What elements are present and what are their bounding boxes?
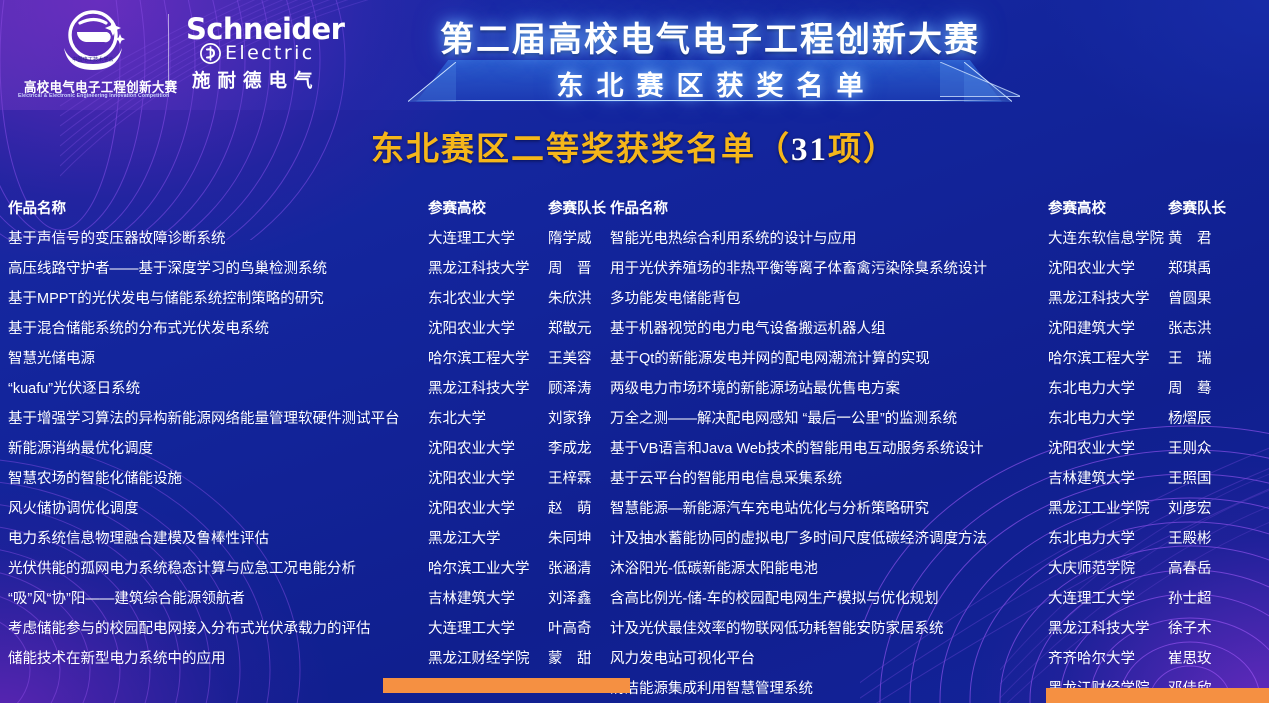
column-header-name: 作品名称 <box>610 194 1040 224</box>
header-title-line1: 第二届高校电气电子工程创新大赛 <box>380 12 1040 61</box>
cell-work-name: 基于声信号的变压器故障诊断系统 <box>8 224 420 254</box>
column-header-captain: 参赛队长 <box>1168 194 1226 224</box>
cell-captain: 王梓霖 <box>548 464 592 494</box>
award-table-right: 作品名称 参赛高校 参赛队长 智能光电热综合利用系统的设计与应用大连东软信息学院… <box>610 194 1269 703</box>
award-table-left: 作品名称 参赛高校 参赛队长 基于声信号的变压器故障诊断系统大连理工大学隋学威高… <box>8 194 628 674</box>
table-row: 计及抽水蓄能协同的虚拟电厂多时间尺度低碳经济调度方法东北电力大学王殿彬 <box>610 524 1269 554</box>
subtitle-count: 31 <box>791 132 828 168</box>
cell-school: 沈阳农业大学 <box>428 434 515 464</box>
cell-captain: 杨熠辰 <box>1168 404 1212 434</box>
cell-work-name: 智慧光储电源 <box>8 344 420 374</box>
cell-work-name: 储能技术在新型电力系统中的应用 <box>8 644 420 674</box>
cell-captain: 李成龙 <box>548 434 592 464</box>
cell-captain: 王照国 <box>1168 464 1212 494</box>
cell-school: 吉林建筑大学 <box>1048 464 1135 494</box>
cell-school: 东北大学 <box>428 404 486 434</box>
table-row: 含高比例光-储-车的校园配电网生产模拟与优化规划大连理工大学孙士超 <box>610 584 1269 614</box>
cell-work-name: “吸”风“协”阳——建筑综合能源领航者 <box>8 584 420 614</box>
cell-captain: 蒙 甜 <box>548 644 592 674</box>
cell-work-name: 智慧农场的智能化储能设施 <box>8 464 420 494</box>
cell-work-name: 智能光电热综合利用系统的设计与应用 <box>610 224 1040 254</box>
cell-school: 大庆师范学院 <box>1048 554 1135 584</box>
cell-work-name: 基于增强学习算法的异构新能源网络能量管理软硬件测试平台 <box>8 404 420 434</box>
table-row: 用于光伏养殖场的非热平衡等离子体畜禽污染除臭系统设计沈阳农业大学郑琪禹 <box>610 254 1269 284</box>
table-row: 高压线路守护者——基于深度学习的鸟巢检测系统黑龙江科技大学周 晋 <box>8 254 628 284</box>
table-row: 多功能发电储能背包黑龙江科技大学曾圆果 <box>610 284 1269 314</box>
cell-school: 东北电力大学 <box>1048 404 1135 434</box>
table-row: 万全之测——解决配电网感知 “最后一公里”的监测系统东北电力大学杨熠辰 <box>610 404 1269 434</box>
table-row: 基于VB语言和Java Web技术的智能用电互动服务系统设计沈阳农业大学王则众 <box>610 434 1269 464</box>
cell-school: 东北电力大学 <box>1048 374 1135 404</box>
cell-work-name: 沐浴阳光-低碳新能源太阳能电池 <box>610 554 1040 584</box>
cell-captain: 郑㪚元 <box>548 314 592 344</box>
sponsor-name-cn: 施耐德电气 <box>192 67 386 93</box>
cell-captain: 郑琪禹 <box>1168 254 1212 284</box>
header-triangle-accent <box>940 62 1020 98</box>
page-subtitle: 东北赛区二等奖获奖名单（31项） <box>0 122 1269 170</box>
cell-work-name: 基于混合储能系统的分布式光伏发电系统 <box>8 314 420 344</box>
cell-school: 沈阳农业大学 <box>1048 254 1135 284</box>
column-header-captain: 参赛队长 <box>548 194 606 224</box>
table-row: 电力系统信息物理融合建模及鲁棒性评估黑龙江大学朱同坤 <box>8 524 628 554</box>
cell-work-name: 风力发电站可视化平台 <box>610 644 1040 674</box>
cell-school: 吉林建筑大学 <box>428 584 515 614</box>
schneider-emblem-icon <box>200 43 221 64</box>
cell-work-name: 计及抽水蓄能协同的虚拟电厂多时间尺度低碳经济调度方法 <box>610 524 1040 554</box>
cell-work-name: “kuafu”光伏逐日系统 <box>8 374 420 404</box>
header-banner: 中国电工技术学会 高校电气电子工程创新大赛 Electrical & Elect… <box>0 0 1269 110</box>
cell-captain: 张志洪 <box>1168 314 1212 344</box>
cell-captain: 王美容 <box>548 344 592 374</box>
cell-work-name: 光伏供能的孤网电力系统稳态计算与应急工况电能分析 <box>8 554 420 584</box>
cell-work-name: 基于云平台的智能用电信息采集系统 <box>610 464 1040 494</box>
cell-captain: 崔思玫 <box>1168 644 1212 674</box>
cell-school: 沈阳农业大学 <box>1048 434 1135 464</box>
cell-work-name: 风火储协调优化调度 <box>8 494 420 524</box>
table-row: 基于增强学习算法的异构新能源网络能量管理软硬件测试平台东北大学刘家铮 <box>8 404 628 434</box>
cell-school: 黑龙江科技大学 <box>1048 284 1150 314</box>
column-header-name: 作品名称 <box>8 194 420 224</box>
cell-school: 黑龙江财经学院 <box>428 644 530 674</box>
column-header-school: 参赛高校 <box>428 194 486 224</box>
table-row: 智慧能源—新能源汽车充电站优化与分析策略研究黑龙江工业学院刘彦宏 <box>610 494 1269 524</box>
sponsor-sub: Electric <box>225 42 315 64</box>
cell-school: 沈阳农业大学 <box>428 464 515 494</box>
cell-school: 东北农业大学 <box>428 284 515 314</box>
column-header-school: 参赛高校 <box>1048 194 1106 224</box>
cell-work-name: 考虑储能参与的校园配电网接入分布式光伏承载力的评估 <box>8 614 420 644</box>
cell-school: 黑龙江大学 <box>428 524 501 554</box>
cell-school: 大连理工大学 <box>428 224 515 254</box>
cell-work-name: 基于VB语言和Java Web技术的智能用电互动服务系统设计 <box>610 434 1040 464</box>
cell-captain: 顾泽涛 <box>548 374 592 404</box>
cell-work-name: 含高比例光-储-车的校园配电网生产模拟与优化规划 <box>610 584 1040 614</box>
table-row: 风火储协调优化调度沈阳农业大学赵 萌 <box>8 494 628 524</box>
table-row: 基于MPPT的光伏发电与储能系统控制策略的研究东北农业大学朱欣洪 <box>8 284 628 314</box>
cell-work-name: 清洁能源集成利用智慧管理系统 <box>610 674 1040 703</box>
cell-captain: 赵 萌 <box>548 494 592 524</box>
cell-captain: 王 瑞 <box>1168 344 1212 374</box>
cell-school: 大连理工大学 <box>1048 584 1135 614</box>
cell-captain: 隋学威 <box>548 224 592 254</box>
table-row: 基于机器视觉的电力电气设备搬运机器人组沈阳建筑大学张志洪 <box>610 314 1269 344</box>
table-row: 储能技术在新型电力系统中的应用黑龙江财经学院蒙 甜 <box>8 644 628 674</box>
competition-logo-icon: 中国电工技术学会 <box>50 8 136 74</box>
cell-captain: 周 蓦 <box>1168 374 1212 404</box>
competition-logo: 中国电工技术学会 高校电气电子工程创新大赛 Electrical & Elect… <box>18 6 168 106</box>
cell-captain: 王则众 <box>1168 434 1212 464</box>
sponsor-sub-row: Electric <box>200 42 386 64</box>
cell-work-name: 万全之测——解决配电网感知 “最后一公里”的监测系统 <box>610 404 1040 434</box>
table-row: 基于混合储能系统的分布式光伏发电系统沈阳农业大学郑㪚元 <box>8 314 628 344</box>
cell-work-name: 用于光伏养殖场的非热平衡等离子体畜禽污染除臭系统设计 <box>610 254 1040 284</box>
cell-school: 哈尔滨工业大学 <box>428 554 530 584</box>
table-row: 两级电力市场环境的新能源场站最优售电方案东北电力大学周 蓦 <box>610 374 1269 404</box>
cell-school: 哈尔滨工程大学 <box>428 344 530 374</box>
table-row: “吸”风“协”阳——建筑综合能源领航者吉林建筑大学刘泽鑫 <box>8 584 628 614</box>
cell-work-name: 新能源消纳最优化调度 <box>8 434 420 464</box>
table-row: 基于云平台的智能用电信息采集系统吉林建筑大学王照国 <box>610 464 1269 494</box>
cell-captain: 孙士超 <box>1168 584 1212 614</box>
cell-work-name: 基于MPPT的光伏发电与储能系统控制策略的研究 <box>8 284 420 314</box>
cell-captain: 朱同坤 <box>548 524 592 554</box>
cell-captain: 高春岳 <box>1168 554 1212 584</box>
cell-school: 沈阳建筑大学 <box>1048 314 1135 344</box>
table-row: 新能源消纳最优化调度沈阳农业大学李成龙 <box>8 434 628 464</box>
cell-captain: 刘彦宏 <box>1168 494 1212 524</box>
cell-school: 大连东软信息学院 <box>1048 224 1164 254</box>
cell-captain: 王殿彬 <box>1168 524 1212 554</box>
accent-bar-left <box>383 678 630 693</box>
accent-bar-right <box>1046 688 1269 703</box>
table-header-row-right: 作品名称 参赛高校 参赛队长 <box>610 194 1269 224</box>
cell-school: 沈阳农业大学 <box>428 314 515 344</box>
cell-school: 黑龙江科技大学 <box>1048 614 1150 644</box>
cell-work-name: 基于Qt的新能源发电并网的配电网潮流计算的实现 <box>610 344 1040 374</box>
logo-divider <box>168 14 169 94</box>
poster-canvas: 中国电工技术学会 高校电气电子工程创新大赛 Electrical & Elect… <box>0 0 1269 703</box>
cell-work-name: 两级电力市场环境的新能源场站最优售电方案 <box>610 374 1040 404</box>
cell-work-name: 多功能发电储能背包 <box>610 284 1040 314</box>
cell-school: 黑龙江工业学院 <box>1048 494 1150 524</box>
cell-captain: 刘家铮 <box>548 404 592 434</box>
cell-captain: 叶高奇 <box>548 614 592 644</box>
cell-school: 齐齐哈尔大学 <box>1048 644 1135 674</box>
competition-logo-en: Electrical & Electronic Engineering Inno… <box>18 93 168 99</box>
table-row: 风力发电站可视化平台齐齐哈尔大学崔思玫 <box>610 644 1269 674</box>
svg-text:中国电工技术学会: 中国电工技术学会 <box>72 55 114 63</box>
cell-school: 大连理工大学 <box>428 614 515 644</box>
cell-work-name: 电力系统信息物理融合建模及鲁棒性评估 <box>8 524 420 554</box>
cell-captain: 张涵清 <box>548 554 592 584</box>
cell-captain: 徐子木 <box>1168 614 1212 644</box>
table-row: 沐浴阳光-低碳新能源太阳能电池大庆师范学院高春岳 <box>610 554 1269 584</box>
cell-work-name: 高压线路守护者——基于深度学习的鸟巢检测系统 <box>8 254 420 284</box>
sponsor-logo: Schneider Electric 施耐德电气 <box>186 14 386 98</box>
table-row: “kuafu”光伏逐日系统黑龙江科技大学顾泽涛 <box>8 374 628 404</box>
table-row: 考虑储能参与的校园配电网接入分布式光伏承载力的评估大连理工大学叶高奇 <box>8 614 628 644</box>
table-row: 光伏供能的孤网电力系统稳态计算与应急工况电能分析哈尔滨工业大学张涵清 <box>8 554 628 584</box>
table-row: 基于Qt的新能源发电并网的配电网潮流计算的实现哈尔滨工程大学王 瑞 <box>610 344 1269 374</box>
cell-captain: 刘泽鑫 <box>548 584 592 614</box>
table-row: 基于声信号的变压器故障诊断系统大连理工大学隋学威 <box>8 224 628 254</box>
table-row: 智慧光储电源哈尔滨工程大学王美容 <box>8 344 628 374</box>
cell-captain: 朱欣洪 <box>548 284 592 314</box>
sponsor-name: Schneider <box>186 14 386 44</box>
cell-captain: 黄 君 <box>1168 224 1212 254</box>
cell-school: 哈尔滨工程大学 <box>1048 344 1150 374</box>
cell-school: 东北电力大学 <box>1048 524 1135 554</box>
cell-captain: 曾圆果 <box>1168 284 1212 314</box>
cell-work-name: 智慧能源—新能源汽车充电站优化与分析策略研究 <box>610 494 1040 524</box>
table-header-row-left: 作品名称 参赛高校 参赛队长 <box>8 194 628 224</box>
cell-school: 黑龙江科技大学 <box>428 374 530 404</box>
table-row: 智能光电热综合利用系统的设计与应用大连东软信息学院黄 君 <box>610 224 1269 254</box>
subtitle-suffix: 项） <box>828 132 898 168</box>
cell-school: 沈阳农业大学 <box>428 494 515 524</box>
cell-school: 黑龙江科技大学 <box>428 254 530 284</box>
table-row: 智慧农场的智能化储能设施沈阳农业大学王梓霖 <box>8 464 628 494</box>
table-row: 计及光伏最佳效率的物联网低功耗智能安防家居系统黑龙江科技大学徐子木 <box>610 614 1269 644</box>
cell-work-name: 基于机器视觉的电力电气设备搬运机器人组 <box>610 314 1040 344</box>
subtitle-text: 东北赛区二等奖获奖名单（ <box>371 132 791 168</box>
cell-work-name: 计及光伏最佳效率的物联网低功耗智能安防家居系统 <box>610 614 1040 644</box>
cell-captain: 周 晋 <box>548 254 592 284</box>
